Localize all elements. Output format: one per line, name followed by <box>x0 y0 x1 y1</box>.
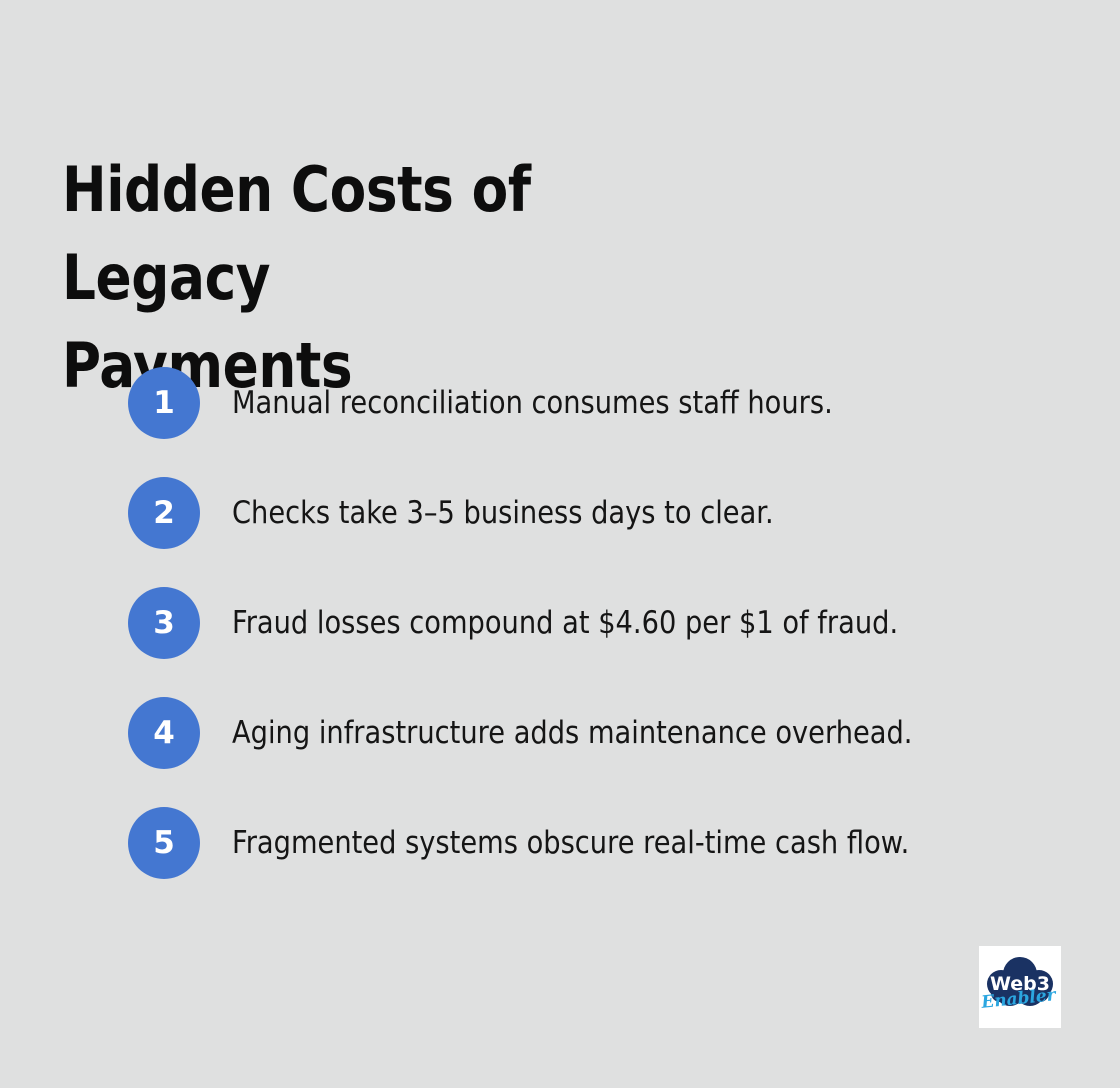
list-item: 4 Aging infrastructure adds maintenance … <box>128 697 1068 769</box>
list-item-label: Aging infrastructure adds maintenance ov… <box>232 713 968 753</box>
list-item-number-badge: 4 <box>128 697 200 769</box>
infographic-canvas: Hidden Costs of Legacy Payments 1 Manual… <box>0 0 1120 1088</box>
list-item: 1 Manual reconciliation consumes staff h… <box>128 367 1068 439</box>
list-item-number-badge: 1 <box>128 367 200 439</box>
web3-enabler-logo: Web3 Enabler <box>979 946 1061 1028</box>
list-item: 3 Fraud losses compound at $4.60 per $1 … <box>128 587 1068 659</box>
list-item: 5 Fragmented systems obscure real-time c… <box>128 807 1068 879</box>
numbered-list: 1 Manual reconciliation consumes staff h… <box>128 367 1068 879</box>
list-item: 2 Checks take 3–5 business days to clear… <box>128 477 1068 549</box>
list-item-number-badge: 5 <box>128 807 200 879</box>
list-item-label: Fraud losses compound at $4.60 per $1 of… <box>232 603 968 643</box>
cloud-icon: Web3 Enabler <box>979 946 1061 1028</box>
list-item-label: Fragmented systems obscure real-time cas… <box>232 823 968 863</box>
list-item-number-badge: 3 <box>128 587 200 659</box>
list-item-label: Checks take 3–5 business days to clear. <box>232 493 968 533</box>
list-item-number-badge: 2 <box>128 477 200 549</box>
list-item-label: Manual reconciliation consumes staff hou… <box>232 383 968 423</box>
